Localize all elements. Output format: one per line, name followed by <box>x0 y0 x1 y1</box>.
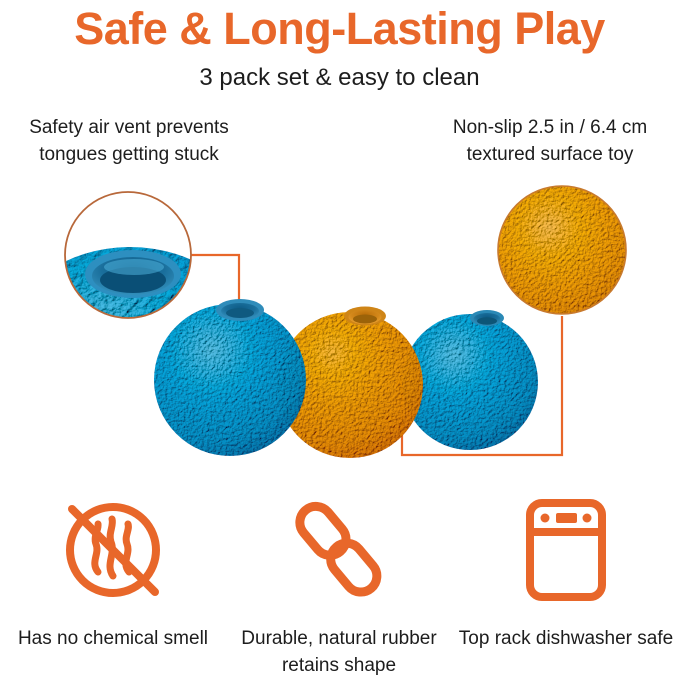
feature-durable-rubber: Durable, natural rubber retains shape <box>226 495 452 679</box>
callout-label-air-vent: Safety air vent prevents tongues getting… <box>4 114 254 168</box>
feature-label-dishwasher-safe: Top rack dishwasher safe <box>453 625 679 652</box>
feature-no-chemical-smell: Has no chemical smell <box>0 495 226 652</box>
no-chemical-smell-icon <box>0 495 226 605</box>
feature-dishwasher-safe: Top rack dishwasher safe <box>453 495 679 652</box>
product-photo-svg <box>0 170 679 480</box>
page-subtitle: 3 pack set & easy to clean <box>0 63 679 93</box>
feature-label-durable-rubber: Durable, natural rubber retains shape <box>226 625 452 679</box>
ball-blue-left <box>154 299 306 456</box>
page-title: Safe & Long-Lasting Play <box>0 2 679 56</box>
feature-label-no-chemical-smell: Has no chemical smell <box>0 625 226 652</box>
feature-row: Has no chemical smell Durable, natural r… <box>0 495 679 685</box>
product-photo-collage <box>0 170 679 480</box>
infographic-panel: Safe & Long-Lasting Play 3 pack set & ea… <box>0 0 679 685</box>
dishwasher-icon <box>453 495 679 605</box>
zoom-circle-textured-surface <box>498 186 626 314</box>
callout-label-textured-surface: Non-slip 2.5 in / 6.4 cm textured surfac… <box>425 114 675 168</box>
chain-link-icon <box>226 495 452 605</box>
